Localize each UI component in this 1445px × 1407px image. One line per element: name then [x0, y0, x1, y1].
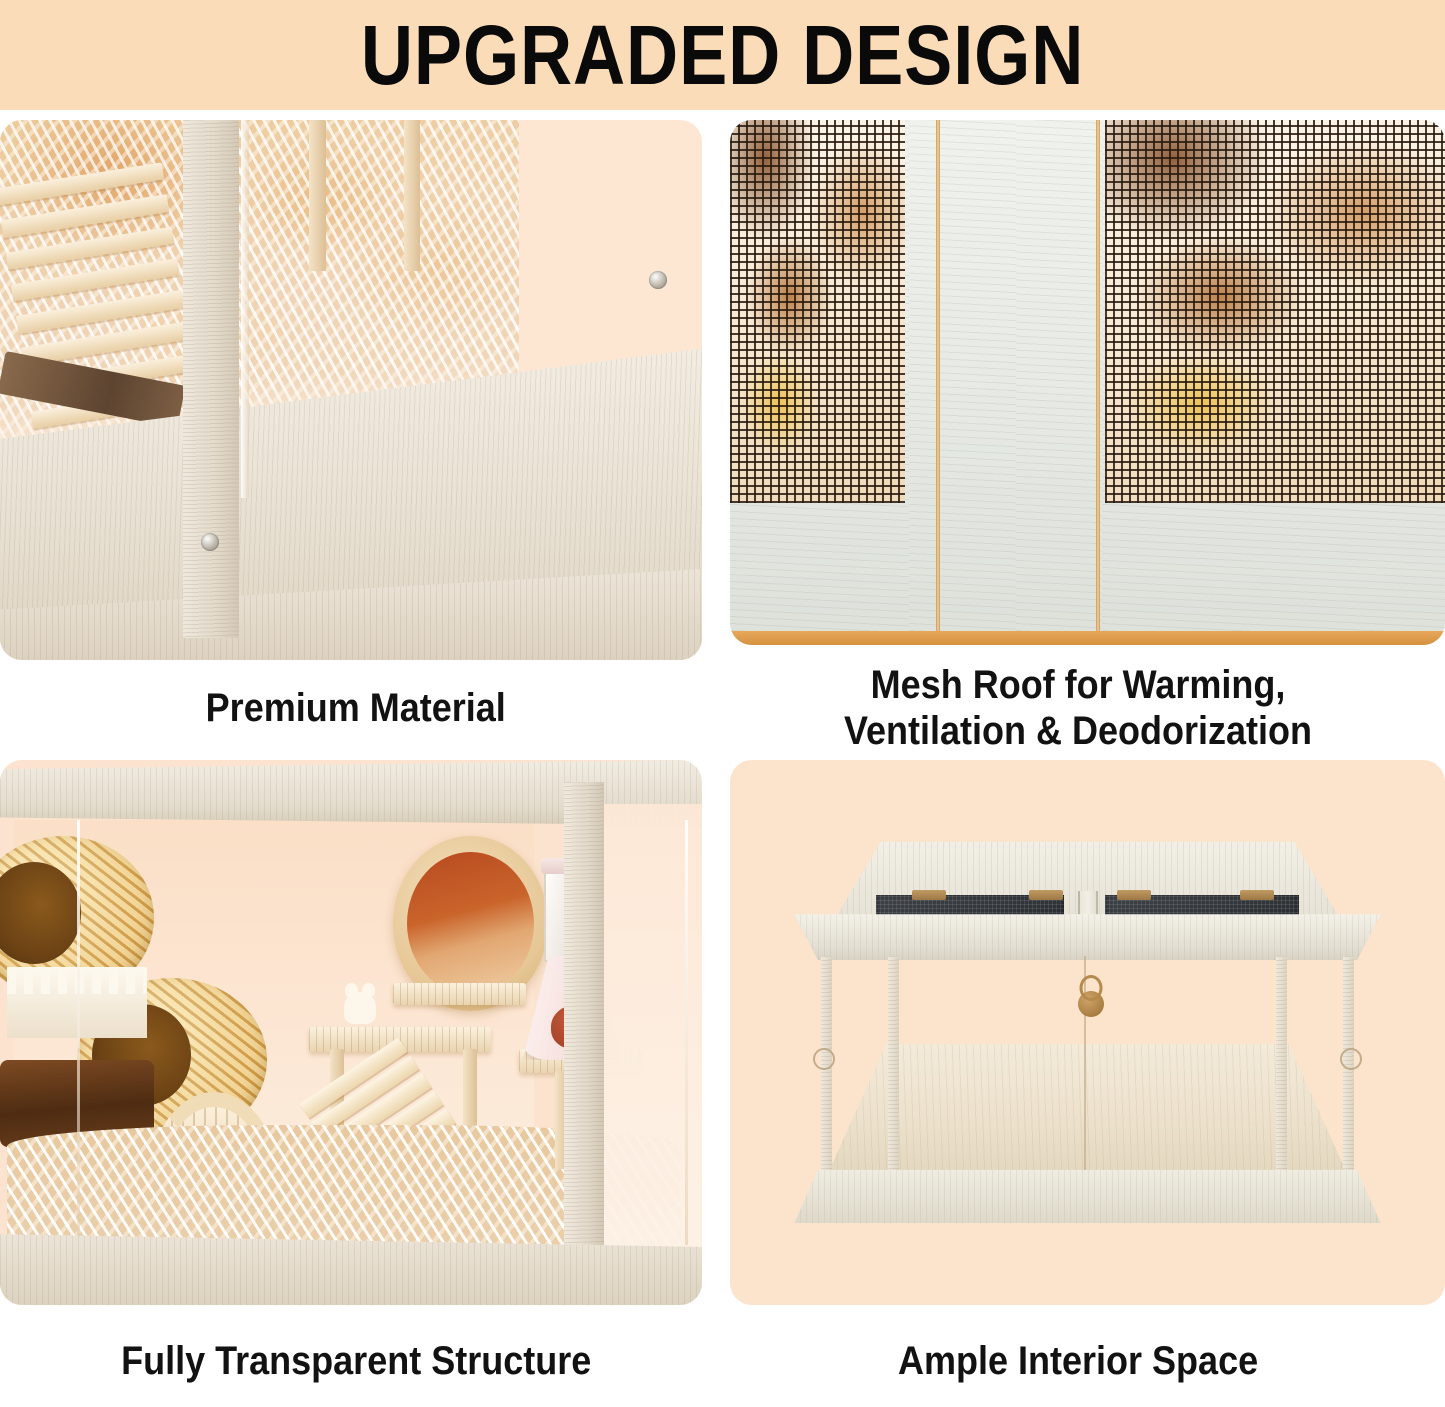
cage-floor	[830, 1044, 1346, 1170]
caption-line: Premium Material	[206, 686, 506, 732]
acrylic-panel-edge	[241, 120, 249, 498]
feature-caption-transparent-structure: Fully Transparent Structure	[0, 1305, 712, 1407]
feature-card-ample-interior-space: Ample Interior Space	[712, 760, 1445, 1407]
page-title: UPGRADED DESIGN	[361, 7, 1084, 104]
corner-post-mid-l	[888, 956, 899, 1170]
side-knob-left[interactable]	[813, 1048, 835, 1070]
mesh-screen-left	[730, 120, 905, 503]
mesh-screen-right	[1105, 120, 1445, 503]
feature-caption-mesh-roof: Mesh Roof for Warming, Ventilation & Deo…	[712, 645, 1445, 760]
hinge-4	[1240, 890, 1274, 900]
hinge-1	[912, 890, 946, 900]
panel-seam-left	[936, 120, 940, 645]
roof-board-mid2	[1016, 120, 1102, 645]
feature-image-transparent-structure	[0, 760, 702, 1305]
support-post-2	[309, 120, 326, 271]
feature-image-premium-material	[0, 120, 702, 660]
acrylic-seam-right	[685, 820, 688, 1245]
side-knob-right[interactable]	[1340, 1048, 1362, 1070]
header-banner: UPGRADED DESIGN	[0, 0, 1445, 110]
cage-assembly	[794, 842, 1380, 1224]
acrylic-seam-left	[77, 820, 80, 1245]
feature-caption-premium-material: Premium Material	[0, 660, 712, 760]
screw-upper	[649, 271, 667, 289]
feature-image-mesh-roof	[730, 120, 1445, 645]
platform-upper	[393, 983, 526, 1005]
feature-caption-ample-interior-space: Ample Interior Space	[712, 1305, 1445, 1407]
upper-frame-band	[794, 914, 1380, 960]
hinge-3	[1117, 890, 1151, 900]
base-frame-band	[794, 1170, 1380, 1223]
feature-image-ample-interior-space	[730, 760, 1445, 1305]
feature-grid: Premium Material Mesh Roof for Warming, …	[0, 110, 1445, 1407]
support-post-3	[404, 120, 421, 271]
door-ring-pull-handle[interactable]	[1078, 991, 1104, 1017]
hinge-2	[1029, 890, 1063, 900]
caption-line: Fully Transparent Structure	[121, 1339, 591, 1385]
caption-line: Ample Interior Space	[898, 1339, 1258, 1385]
feature-card-transparent-structure: Fully Transparent Structure	[0, 760, 712, 1407]
caption-line-1: Mesh Roof for Warming,	[844, 663, 1312, 709]
screw-lower	[201, 533, 219, 551]
roof-frame-base	[730, 631, 1445, 645]
feature-card-premium-material: Premium Material	[0, 110, 712, 760]
corner-post-mid-r	[1276, 956, 1287, 1170]
caption-block: Mesh Roof for Warming, Ventilation & Deo…	[844, 663, 1312, 754]
corner-post	[183, 120, 239, 638]
caption-line-2: Ventilation & Deodorization	[844, 709, 1312, 755]
feature-card-mesh-roof: Mesh Roof for Warming, Ventilation & Deo…	[712, 110, 1445, 760]
roof-board-mid	[909, 120, 1016, 645]
cage-corner-post	[564, 782, 603, 1283]
panel-seam-right	[1096, 120, 1100, 645]
mouse-figurine	[344, 992, 376, 1025]
